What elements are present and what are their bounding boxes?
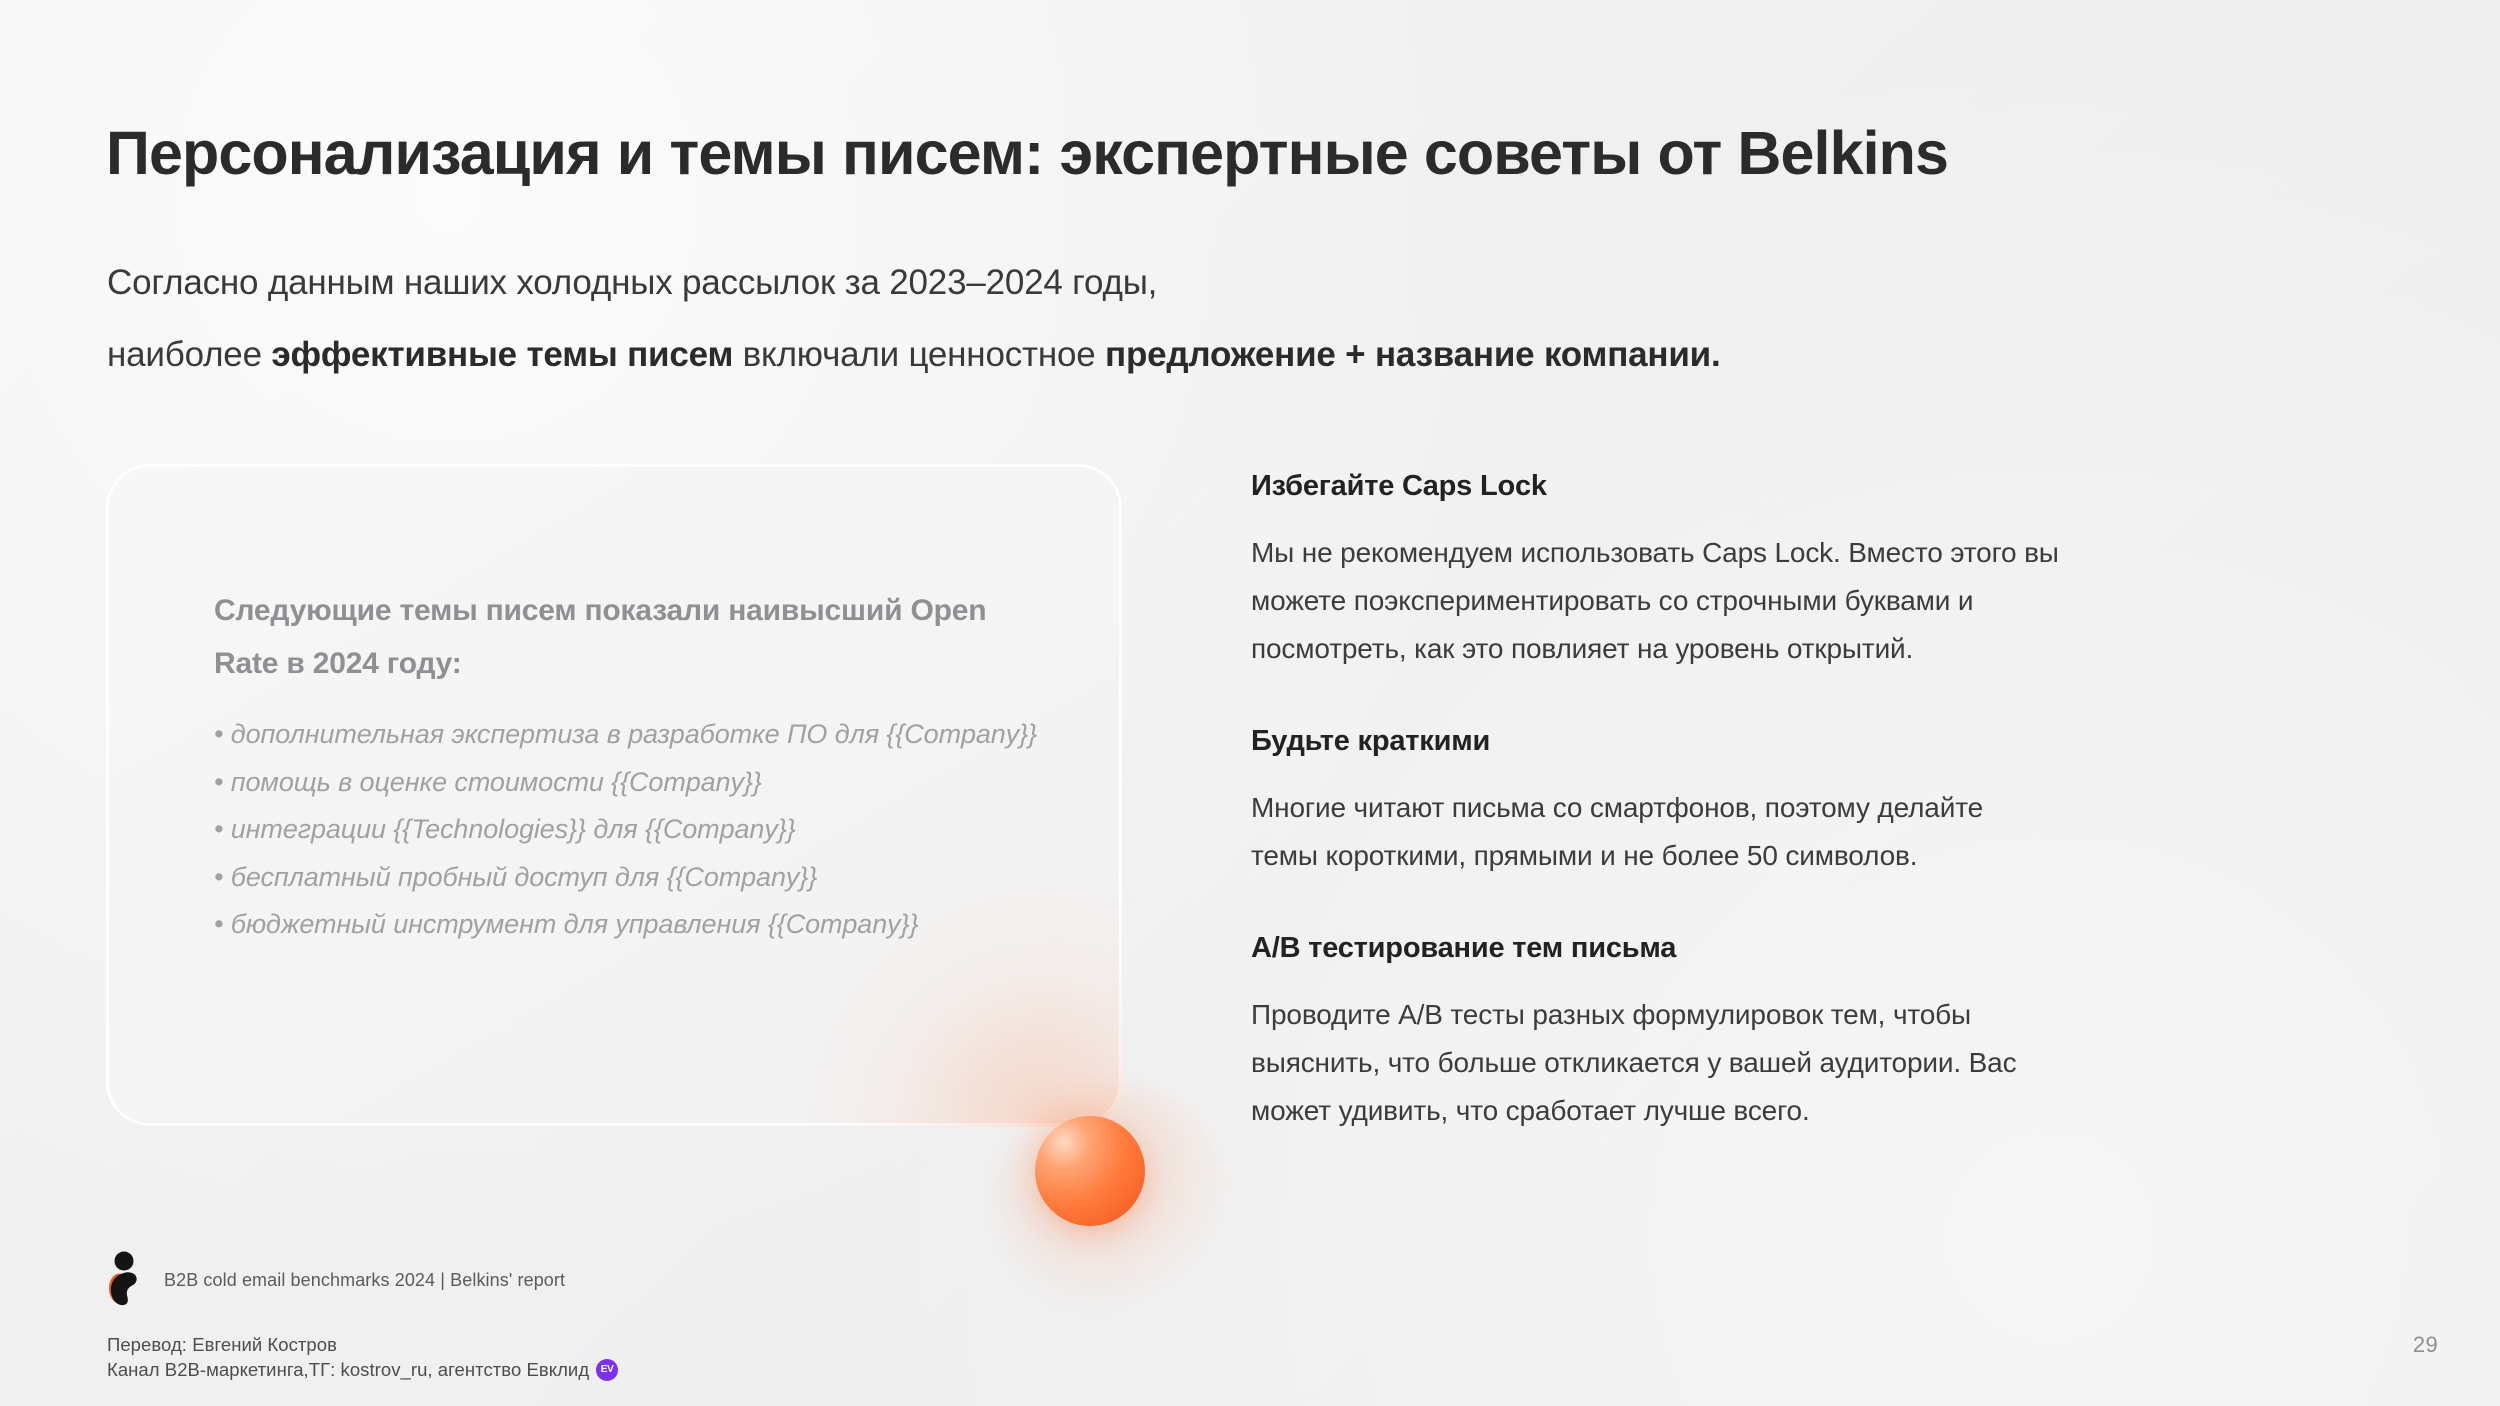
- tip-body-line: Мы не рекомендуем использовать Caps Lock…: [1251, 529, 2241, 577]
- tip-block: A/B тестирование тем письма Проводите A/…: [1251, 932, 2271, 1135]
- subtitle-line-1: Согласно данным наших холодных рассылок …: [107, 247, 1721, 319]
- slide-canvas: Персонализация и темы писем: экспертные …: [0, 0, 2500, 1406]
- tip-title: Избегайте Caps Lock: [1251, 470, 2271, 503]
- list-item: • интеграции {{Technologies}} для {{Comp…: [214, 806, 1094, 854]
- tip-body-line: Многие читают письма со смартфонов, поэт…: [1251, 784, 2241, 832]
- footer-credit-line-1: Перевод: Евгений Костров: [107, 1332, 618, 1357]
- subject-line-list: • дополнительная экспертиза в разработке…: [214, 711, 1094, 949]
- subtitle-line-2: наиболее эффективные темы писем включали…: [107, 319, 1721, 391]
- list-item: • бюджетный инструмент для управления {{…: [214, 901, 1094, 949]
- tip-title: Будьте краткими: [1251, 725, 2271, 758]
- tip-body-line: темы короткими, прямыми и не более 50 си…: [1251, 832, 2241, 880]
- tip-block: Избегайте Caps Lock Мы не рекомендуем ис…: [1251, 470, 2271, 673]
- subtitle-text-1: наиболее: [107, 335, 271, 374]
- list-item: • помощь в оценке стоимости {{Company}}: [214, 759, 1094, 807]
- list-item: • дополнительная экспертиза в разработке…: [214, 711, 1094, 759]
- tips-column: Избегайте Caps Lock Мы не рекомендуем ис…: [1251, 470, 2271, 1135]
- footer-translator-text: Перевод: Евгений Костров: [107, 1332, 337, 1357]
- email-subjects-card: Следующие темы писем показали наивысший …: [106, 464, 1122, 1126]
- card-heading-line-1: Следующие темы писем показали наивысший: [214, 594, 902, 627]
- tip-title: A/B тестирование тем письма: [1251, 932, 2271, 965]
- tip-body: Проводите A/B тесты разных формулировок …: [1251, 991, 2241, 1135]
- page-number: 29: [2413, 1332, 2438, 1358]
- tip-block: Будьте краткими Многие читают письма со …: [1251, 725, 2271, 880]
- page-title: Персонализация и темы писем: экспертные …: [106, 118, 1948, 188]
- page-subtitle: Согласно данным наших холодных рассылок …: [107, 247, 1721, 391]
- tip-body-line: Проводите A/B тесты разных формулировок …: [1251, 991, 2241, 1039]
- belkins-logo-icon: [104, 1251, 142, 1309]
- tip-body-line: можете поэкспериментировать со строчными…: [1251, 577, 2241, 625]
- tip-body: Мы не рекомендуем использовать Caps Lock…: [1251, 529, 2241, 673]
- tip-body: Многие читают письма со смартфонов, поэт…: [1251, 784, 2241, 880]
- orange-sphere-decoration: [1035, 1116, 1145, 1226]
- subtitle-text-2: включали ценностное: [733, 335, 1105, 374]
- footer-source-row: B2B cold email benchmarks 2024 | Belkins…: [104, 1251, 565, 1309]
- list-item: • бесплатный пробный доступ для {{Compan…: [214, 854, 1094, 902]
- footer-source-text: B2B cold email benchmarks 2024 | Belkins…: [164, 1270, 565, 1291]
- card-heading: Следующие темы писем показали наивысший …: [214, 584, 1054, 690]
- tip-body-line: может удивить, что сработает лучше всего…: [1251, 1087, 2241, 1135]
- tip-body-line: выяснить, что больше откликается у вашей…: [1251, 1039, 2241, 1087]
- subtitle-bold-1: эффективные темы писем: [271, 335, 733, 374]
- footer-credits: Перевод: Евгений Костров Канал B2B-марке…: [107, 1332, 618, 1382]
- footer-credit-line-2: Канал B2B-маркетинга,ТГ: kostrov_ru, аге…: [107, 1357, 618, 1382]
- subtitle-bold-2: предложение + название компании.: [1105, 335, 1720, 374]
- tip-body-line: посмотреть, как это повлияет на уровень …: [1251, 625, 2241, 673]
- euclid-badge-icon: EV: [596, 1359, 618, 1381]
- footer-channel-text: Канал B2B-маркетинга,ТГ: kostrov_ru, аге…: [107, 1357, 589, 1382]
